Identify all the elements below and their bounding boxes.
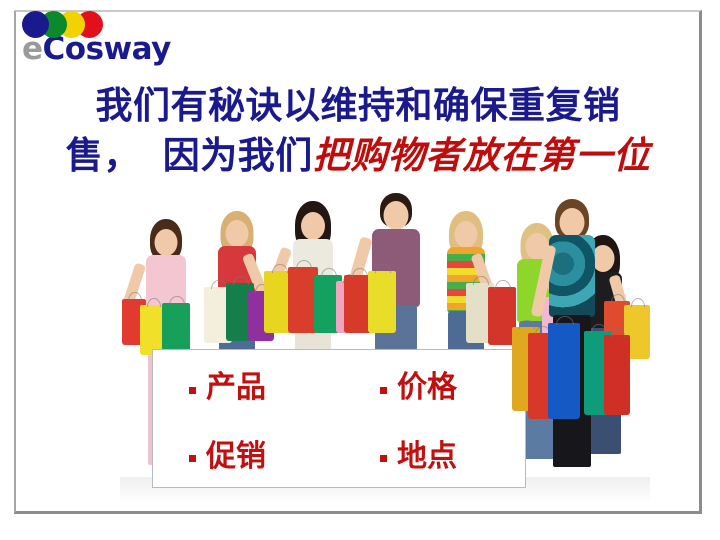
list-item-label: 产品 [206, 362, 266, 406]
square-bullet-icon [380, 455, 387, 462]
title-line-2: 售，因为我们把购物者放在第一位 [28, 130, 688, 180]
head [155, 229, 178, 256]
shopping-bag [368, 271, 396, 333]
head [301, 212, 325, 240]
head [455, 221, 478, 248]
shopper-figure [510, 199, 620, 481]
logo-word-cosway: Cosway [43, 31, 171, 67]
head [559, 208, 584, 237]
list-item-label: 价格 [397, 362, 457, 406]
list-item-label: 地点 [397, 431, 457, 475]
list-item-label: 促销 [206, 431, 266, 475]
square-bullet-icon [189, 387, 196, 394]
title-highlight-text: 把购物者放在第一位 [313, 133, 651, 177]
list-item: 促销 [153, 431, 358, 475]
list-item: 地点 [358, 431, 527, 475]
title-text-line1: 我们有秘诀以维持和确保重复销 [96, 83, 621, 127]
ecosway-logo: eCosway [22, 8, 172, 68]
shopping-bag [604, 335, 630, 415]
slide-root: eCosway 我们有秘诀以维持和确保重复销 售，因为我们把购物者放在第一位 [0, 0, 720, 540]
bullets-panel: 产品 价格 促销 地点 [152, 349, 526, 488]
list-item: 产品 [153, 362, 358, 406]
bullets-grid: 产品 价格 促销 地点 [153, 350, 525, 487]
shopping-bag [548, 323, 580, 419]
list-item: 价格 [358, 362, 527, 406]
title-text-line2b: 因为我们 [163, 133, 313, 177]
square-bullet-icon [189, 455, 196, 462]
torso [549, 235, 595, 317]
title-text-line2a: 售， [66, 133, 141, 177]
logo-wordmark: eCosway [22, 34, 171, 65]
square-bullet-icon [380, 387, 387, 394]
page-title: 我们有秘诀以维持和确保重复销 售，因为我们把购物者放在第一位 [28, 80, 688, 180]
head [226, 220, 249, 247]
title-line-1: 我们有秘诀以维持和确保重复销 [28, 80, 688, 130]
blue-circle-icon [22, 11, 49, 38]
head [384, 201, 409, 230]
